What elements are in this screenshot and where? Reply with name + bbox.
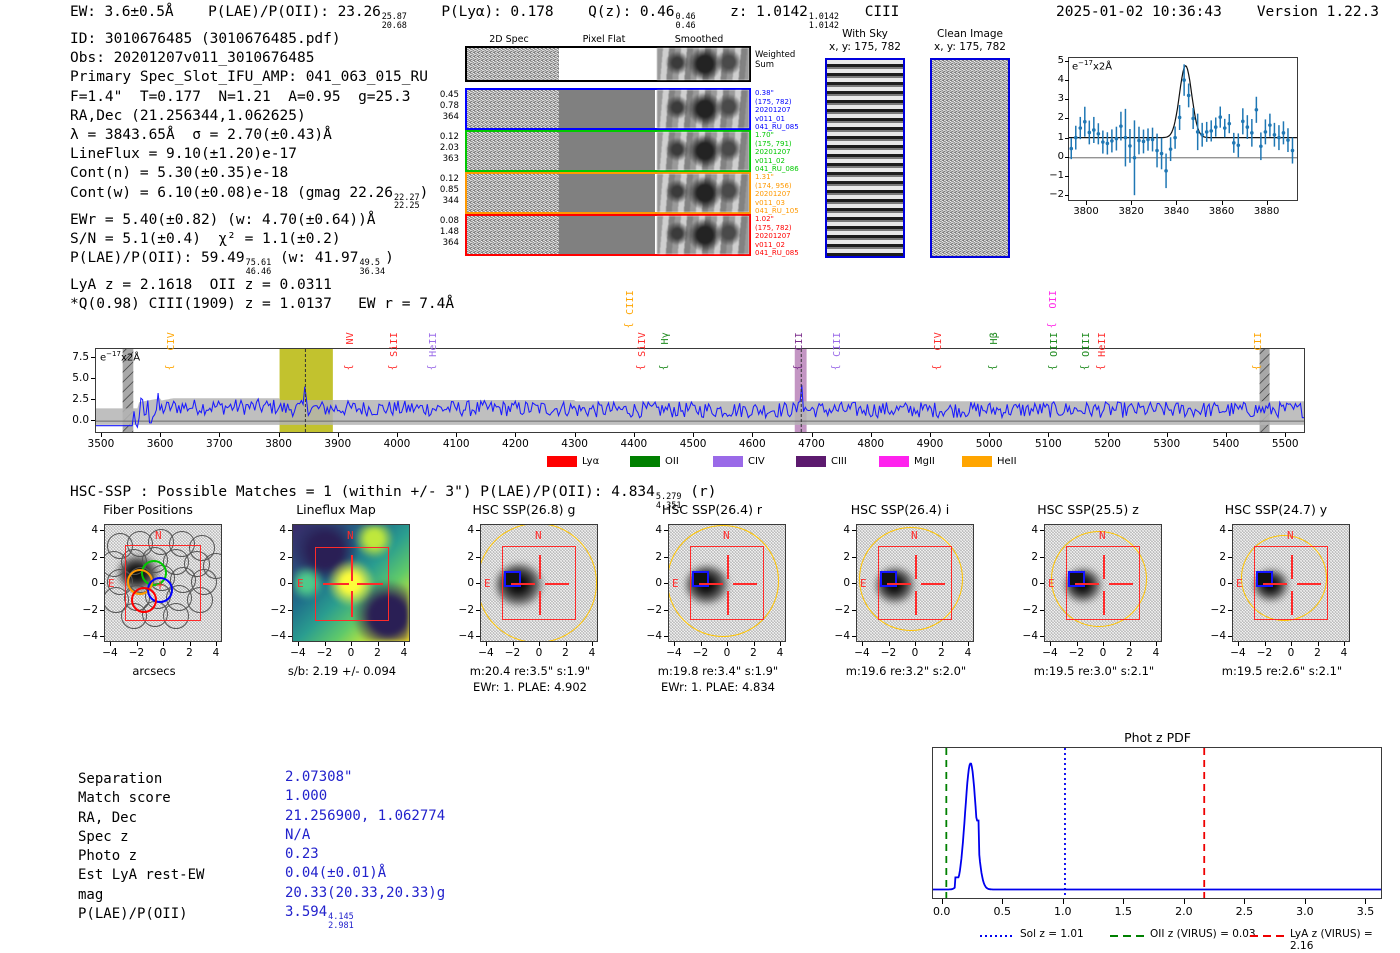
full-spectrum-flux-units: e−17x2Å (100, 350, 140, 363)
line-zoom-canvas (1069, 58, 1297, 200)
emission-line-label: CIV (933, 332, 944, 351)
row-left-stats: 0.122.03363 (415, 132, 459, 165)
row-right-meta: 0.38"(175, 782)20201207v011_01041_RU_085 (755, 89, 819, 132)
cutout-y-tick-label: −2 (260, 604, 286, 616)
phot-x-tick-label: 2.5 (1224, 905, 1264, 918)
panel-caption2-hsc-g: EWr: 1. PLAE: 4.902 (436, 680, 624, 694)
phot-x-tick-label: 3.0 (1285, 905, 1325, 918)
cutout-x-tick-label: 0 (713, 647, 741, 659)
cutout-x-tick (780, 642, 781, 646)
cutout-y-tick-label: −4 (636, 630, 662, 642)
cutout-x-tick (351, 642, 352, 646)
emission-line-bracket: { (1095, 364, 1106, 370)
cutout-x-tick-label: 2 (364, 647, 392, 659)
x-tick-label: 3800 (257, 438, 301, 450)
cutout-y-tick (100, 583, 104, 584)
cutout-y-tick-label: −4 (72, 630, 98, 642)
y-tick-mark (1065, 61, 1069, 62)
cutout-x-tick (190, 642, 191, 646)
row-meta-value: 0.38" (755, 89, 819, 98)
cutout-x-tick (298, 642, 299, 646)
version-label: Version 1.22.3 (1257, 4, 1379, 20)
info-primary-spec: Primary Spec_Slot_IFU_AMP: 041_063_015_R… (70, 68, 454, 87)
cutout-x-tick (566, 642, 567, 646)
cutout-y-tick (100, 530, 104, 531)
cutout-x-tick-label: −4 (1224, 647, 1252, 659)
emission-line-bracket: { (1251, 364, 1262, 370)
row-pixelflat-image (559, 216, 655, 254)
row-pixelflat-image (559, 132, 655, 170)
x-tick-mark (1048, 433, 1049, 437)
cutout-y-tick (476, 610, 480, 611)
panel-title-fiber-positions: Fiber Positions (68, 502, 228, 517)
cutout-y-tick (1228, 530, 1232, 531)
emission-line-bracket: { (388, 364, 399, 370)
cutout-y-tick (288, 636, 292, 637)
row-left-value: 0.85 (415, 185, 459, 196)
x-tick-mark (1167, 433, 1168, 437)
y-tick-mark (91, 399, 95, 400)
cutout-y-tick-label: 4 (1200, 524, 1226, 536)
cutout-x-tick (325, 642, 326, 646)
compass-east: E (672, 577, 679, 590)
cutout-y-tick-label: −2 (1200, 604, 1226, 616)
y-tick-label: 4 (1046, 74, 1064, 85)
x-tick-label: 3820 (1113, 206, 1149, 217)
cutout-x-tick (1077, 642, 1078, 646)
cutout-y-tick (1228, 610, 1232, 611)
phot-x-tick (1002, 899, 1003, 904)
panel-title-lineflux-map: Lineflux Map (256, 502, 416, 517)
crosshair-vert-bot (1103, 591, 1105, 615)
match-plae-range: 4.1452.981 (328, 913, 354, 930)
cutout-axes-hsc-i: NE (856, 524, 974, 642)
cutout-y-tick-label: 0 (448, 577, 474, 589)
phot-x-tick (1365, 899, 1366, 904)
row-meta-value: (175, 782) (755, 224, 819, 233)
row-left-stats: 0.120.85344 (415, 174, 459, 207)
x-tick-mark (575, 433, 576, 437)
row-left-value: 344 (415, 196, 459, 207)
emission-line-bracket: { (831, 364, 842, 370)
phot-legend-line (1250, 930, 1284, 942)
info-cont-n: Cont(n) = 5.30(±0.35)e-18 (70, 164, 454, 183)
match-table-value: 20.33(20.33,20.33)g (285, 884, 445, 903)
emission-line-label: CII (1253, 332, 1264, 351)
phot-legend-label: OII z (VIRUS) = 0.03 (1150, 928, 1256, 940)
cutout-y-tick (664, 636, 668, 637)
cutout-y-tick (664, 610, 668, 611)
cutout-x-tick-label: −2 (687, 647, 715, 659)
x-tick-label: 5300 (1145, 438, 1189, 450)
y-tick-label: 0 (1046, 151, 1064, 162)
cutout-y-tick-label: −4 (260, 630, 286, 642)
info-cont-w-text: Cont(w) = 6.10(±0.08)e-18 (gmag 22.26 (70, 185, 393, 201)
y-tick-mark (91, 357, 95, 358)
x-tick-label: 4900 (908, 438, 952, 450)
x-tick-label: 5000 (967, 438, 1011, 450)
y-tick-label: 7.5 (59, 351, 89, 363)
legend-swatch (630, 456, 660, 467)
y-tick-label: 1 (1046, 132, 1064, 143)
panel-title-hsc-y: HSC SSP(24.7) y (1196, 502, 1356, 517)
x-tick-label: 3500 (79, 438, 123, 450)
header-plae-label: P(LAE)/P(OII): (208, 4, 329, 20)
cutout-x-tick-label: 4 (1142, 647, 1170, 659)
panel-caption1-hsc-z: m:19.5 re:3.0" s:2.1" (1000, 664, 1188, 678)
cutout-y-tick (1040, 530, 1044, 531)
header-plae-lower: 20.68 (382, 22, 407, 31)
cutout-y-tick (1228, 557, 1232, 558)
cutout-y-tick (852, 557, 856, 558)
compass-north: N (1287, 529, 1294, 542)
cutout-y-tick (664, 583, 668, 584)
detection-bluebox (1068, 571, 1085, 587)
y-tick-mark (1065, 176, 1069, 177)
x-tick-label: 4600 (730, 438, 774, 450)
x-tick-label: 5100 (1026, 438, 1070, 450)
y-tick-mark (1065, 80, 1069, 81)
cutout-x-tick-label: 4 (578, 647, 606, 659)
line-zoom-axes (1068, 57, 1298, 201)
cutout-y-tick (100, 636, 104, 637)
crosshair-vert-bot (539, 591, 541, 615)
row-smoothed-image (657, 132, 749, 170)
legend-label: OII (665, 456, 679, 467)
row-left-stats: 0.081.48364 (415, 216, 459, 249)
row-meta-value: (174, 956) (755, 182, 819, 191)
legend-label: Lyα (582, 456, 599, 467)
legend-label: CIII (831, 456, 847, 467)
phot-x-tick-label: 1.5 (1103, 905, 1143, 918)
info-ewr: EWr = 5.40(±0.82) (w: 4.70(±0.64))Å (70, 211, 454, 230)
info-plae: P(LAE)/P(OII): 59.4975.6146.46 (w: 41.97… (70, 249, 454, 276)
y-tick-label: −2 (1046, 189, 1064, 200)
info-cont-w: Cont(w) = 6.10(±0.08)e-18 (gmag 22.2622.… (70, 184, 454, 211)
crosshair-horz-left (1263, 583, 1287, 585)
compass-north: N (911, 529, 918, 542)
crosshair-vert-bot (915, 591, 917, 615)
header-qz-label: Q(z): (588, 4, 631, 20)
cutout-y-tick (1040, 557, 1044, 558)
row-meta-value: 20201207 (755, 232, 819, 241)
cutout-y-tick-label: 0 (260, 577, 286, 589)
cutout-axes-hsc-g: NE (480, 524, 598, 642)
clean-image-title: Clean Image (925, 28, 1015, 40)
row-meta-value: (175, 782) (755, 98, 819, 107)
cutout-x-tick-label: 0 (337, 647, 365, 659)
info-lineflux: LineFlux = 9.10(±1.20)e-17 (70, 145, 454, 164)
x-tick-mark (160, 433, 161, 437)
emission-line-bracket: { (659, 364, 670, 370)
x-tick-label: 4400 (612, 438, 656, 450)
with-sky-coords: x, y: 175, 782 (820, 41, 910, 53)
x-tick-mark (634, 433, 635, 437)
cutout-x-tick (110, 642, 111, 646)
x-tick-mark (1086, 201, 1087, 205)
cutout-x-tick (968, 642, 969, 646)
panel-caption1-hsc-g: m:20.4 re:3.5" s:1.9" (436, 664, 624, 678)
phot-legend-line (1110, 930, 1144, 942)
y-tick-mark (1065, 118, 1069, 119)
cutout-y-tick-label: 4 (72, 524, 98, 536)
mosaic-col-title-pixelflat: Pixel Flat (558, 34, 650, 45)
emission-line-label: SiIV (637, 332, 648, 357)
cutout-y-tick (1040, 583, 1044, 584)
cutout-x-tick (1344, 642, 1345, 646)
crosshair-horz-right (733, 583, 757, 585)
hsc-header-text: HSC-SSP : Possible Matches = 1 (within +… (70, 484, 655, 500)
cutout-x-tick (404, 642, 405, 646)
match-table-key: Separation (78, 770, 204, 789)
legend-swatch (962, 456, 992, 467)
header-ew: EW: 3.6±0.5Å (70, 4, 174, 20)
info-qline: *Q(0.98) CIII(1909) z = 1.0137 EW r = 7.… (70, 295, 454, 314)
cutout-x-tick (163, 642, 164, 646)
cutout-y-tick (476, 530, 480, 531)
compass-east: E (860, 577, 867, 590)
crosshair-horz-right (921, 583, 945, 585)
crosshair-vert-top (351, 555, 353, 581)
cutout-x-tick (513, 642, 514, 646)
cutout-x-tick-label: −4 (660, 647, 688, 659)
emission-line-bracket: { (426, 364, 437, 370)
hsc-header-band: (r) (690, 484, 716, 500)
compass-east: E (108, 577, 115, 590)
match-table-value: 3.5944.1452.981 (285, 903, 445, 930)
cutout-x-tick-label: 4 (1330, 647, 1358, 659)
cutout-x-tick (1318, 642, 1319, 646)
cutout-y-tick (852, 583, 856, 584)
row-2dspec-image (467, 216, 559, 254)
full-spectrum-axes (95, 348, 1305, 433)
crosshair-vert-top (1291, 555, 1293, 579)
row-meta-value: v011_03 (755, 199, 819, 208)
x-tick-label: 3600 (138, 438, 182, 450)
row-meta-value: v011_02 (755, 241, 819, 250)
x-tick-mark (1108, 433, 1109, 437)
cutout-x-tick-label: 2 (176, 647, 204, 659)
cutout-x-tick-label: 2 (740, 647, 768, 659)
mosaic-row-weighted-sum (465, 46, 751, 82)
row-left-value: 0.78 (415, 101, 459, 112)
x-tick-mark (693, 433, 694, 437)
cutout-y-tick-label: 4 (824, 524, 850, 536)
cutout-y-tick (1228, 583, 1232, 584)
panel-caption2-hsc-r: EWr: 1. PLAE: 4.834 (624, 680, 812, 694)
cutout-y-tick-label: −2 (1012, 604, 1038, 616)
cutout-y-tick-label: −2 (448, 604, 474, 616)
weighted-sum-label: Weighted Sum (755, 50, 795, 70)
weighted-sum-smoothed-image (657, 48, 749, 80)
crosshair-horz-left (887, 583, 911, 585)
cutout-x-tick-label: −2 (875, 647, 903, 659)
row-pixelflat-image (559, 90, 655, 128)
cutout-y-tick (288, 583, 292, 584)
cutout-y-tick (1040, 636, 1044, 637)
cutout-y-tick (100, 557, 104, 558)
panel-title-hsc-r: HSC SSP(26.4) r (632, 502, 792, 517)
cutout-y-tick (100, 610, 104, 611)
cutout-y-tick-label: 2 (448, 551, 474, 563)
cutout-y-tick-label: −2 (72, 604, 98, 616)
cutout-x-tick-label: −2 (311, 647, 339, 659)
y-tick-mark (91, 378, 95, 379)
y-tick-label: 5 (1046, 55, 1064, 66)
match-table-value: N/A (285, 826, 445, 845)
cutout-y-tick-label: −2 (824, 604, 850, 616)
panel-caption1-lineflux-map: s/b: 2.19 +/- 0.094 (248, 664, 436, 678)
mosaic-row (465, 88, 751, 130)
cutout-x-tick (486, 642, 487, 646)
cutout-x-tick (1130, 642, 1131, 646)
row-left-value: 364 (415, 238, 459, 249)
cutout-x-tick-label: 4 (954, 647, 982, 659)
cutout-x-tick-label: 0 (901, 647, 929, 659)
info-redshifts: LyA z = 2.1618 OII z = 0.0311 (70, 276, 454, 295)
phot-legend-line (980, 930, 1014, 942)
match-table-value: 0.23 (285, 845, 445, 864)
cutout-x-tick-label: 2 (1304, 647, 1332, 659)
cutout-x-tick-label: −4 (284, 647, 312, 659)
crosshair-horz-left (323, 583, 349, 585)
cutout-y-tick-label: 4 (636, 524, 662, 536)
cutout-x-tick-label: 4 (202, 647, 230, 659)
emission-line-label: OII (1048, 290, 1059, 309)
info-lambda-sigma: λ = 3843.65Å σ = 2.70(±0.43)Å (70, 126, 454, 145)
full-spectrum-panel: e−17x2Å 0.02.55.07.5 3500360037003800390… (95, 340, 1305, 450)
x-tick-mark (871, 433, 872, 437)
x-tick-mark (1226, 433, 1227, 437)
cutout-y-tick-label: −4 (1200, 630, 1226, 642)
phot-x-tick (1184, 899, 1185, 904)
line-zoom-plot: e−17x2Å −2−1012345 38003820384038603880 (1036, 55, 1300, 235)
cutout-x-tick-label: 4 (766, 647, 794, 659)
compass-east: E (484, 577, 491, 590)
cutout-y-tick-label: 2 (824, 551, 850, 563)
cutout-y-tick (1040, 610, 1044, 611)
emission-line-bracket: { (635, 364, 646, 370)
row-smoothed-image (657, 174, 749, 212)
row-meta-value: 20201207 (755, 106, 819, 115)
header-z-value: 1.0142 (756, 4, 808, 20)
compass-east: E (1236, 577, 1243, 590)
emission-line-bracket: { (1080, 364, 1091, 370)
cutout-x-tick-label: −2 (499, 647, 527, 659)
panel-title-hsc-g: HSC SSP(26.8) g (444, 502, 604, 517)
match-plae-lower: 2.981 (328, 922, 354, 931)
cutout-y-tick-label: 4 (1012, 524, 1038, 536)
x-tick-mark (1222, 201, 1223, 205)
header-plya: P(Lyα): 0.178 (441, 4, 553, 20)
cutout-y-tick-label: −4 (448, 630, 474, 642)
phot-x-tick (1244, 899, 1245, 904)
cutout-x-tick (862, 642, 863, 646)
panel-caption1-fiber-positions: arcsecs (60, 664, 248, 678)
x-tick-label: 4700 (790, 438, 834, 450)
crosshair-vert-top (539, 555, 541, 579)
x-tick-label: 3860 (1204, 206, 1240, 217)
row-meta-value: 1.02" (755, 215, 819, 224)
legend-label: CIV (748, 456, 765, 467)
info-radec: RA,Dec (21.256344,1.062625) (70, 107, 454, 126)
crosshair-horz-left (1075, 583, 1099, 585)
phot-x-tick-label: 0.5 (982, 905, 1022, 918)
info-plae-label: P(LAE)/P(OII): 59.49 (70, 250, 245, 266)
match-table-key: P(LAE)/P(OII) (78, 905, 204, 924)
cutout-y-tick (852, 530, 856, 531)
spec2d-mosaic: 2D Spec Pixel Flat Smoothed Weighted Sum… (463, 34, 773, 254)
cutout-axes-lineflux-map: NE (292, 524, 410, 642)
cutout-x-tick (1291, 642, 1292, 646)
info-sn-chi2: S/N = 5.1(±0.4) χ² = 1.1(±0.2) (70, 230, 454, 249)
x-tick-mark (989, 433, 990, 437)
match-table-key: Match score (78, 789, 204, 808)
clean-image-coords: x, y: 175, 782 (925, 41, 1015, 53)
match-table-values: 2.07308"1.00021.256900, 1.062774N/A0.230… (285, 768, 445, 930)
cutout-x-tick (754, 642, 755, 646)
compass-east: E (1048, 577, 1055, 590)
x-tick-label: 3880 (1249, 206, 1285, 217)
x-tick-mark (279, 433, 280, 437)
compass-east: E (297, 577, 304, 590)
row-left-stats: 0.450.78364 (415, 90, 459, 123)
weighted-sum-2dspec-image (467, 48, 559, 80)
cutout-x-tick-label: −2 (123, 647, 151, 659)
x-tick-label: 3800 (1068, 206, 1104, 217)
header-timestamp-version: 2025-01-02 10:36:43 Version 1.22.3 (1056, 4, 1379, 20)
row-2dspec-image (467, 90, 559, 128)
cutout-y-tick-label: 4 (260, 524, 286, 536)
cutout-x-tick-label: −4 (96, 647, 124, 659)
y-tick-label: 0.0 (59, 414, 89, 426)
emission-line-bracket: { (1048, 364, 1059, 370)
cutout-y-tick-label: −2 (636, 604, 662, 616)
cutout-x-tick (539, 642, 540, 646)
cutout-x-tick (216, 642, 217, 646)
header-z-line: CIII (865, 4, 900, 20)
crosshair-horz-right (1297, 583, 1321, 585)
cutout-x-tick-label: −2 (1063, 647, 1091, 659)
row-left-value: 0.12 (415, 174, 459, 185)
info-plae-w: (w: 41.97 (280, 250, 359, 266)
x-tick-label: 4100 (434, 438, 478, 450)
match-table-keys: SeparationMatch scoreRA, DecSpec zPhoto … (78, 770, 204, 924)
emission-line-label: CIII (832, 332, 843, 357)
cutout-y-tick (476, 583, 480, 584)
phot-x-tick-label: 2.0 (1164, 905, 1204, 918)
x-tick-mark (219, 433, 220, 437)
cutout-y-tick (852, 610, 856, 611)
cutout-y-tick-label: 2 (1012, 551, 1038, 563)
compass-north: N (535, 529, 542, 542)
row-left-value: 0.12 (415, 132, 459, 143)
row-right-meta: 1.70"(175, 791)20201207v011_02041_RU_086 (755, 131, 819, 174)
spectrum-legend: LyαOIICIVCIIIMgIIHeII (95, 455, 1305, 471)
cutout-y-tick (288, 610, 292, 611)
header-summary: EW: 3.6±0.5Å P(LAE)/P(OII): 23.2625.8720… (70, 4, 899, 30)
emission-line-bracket: { (623, 322, 634, 328)
match-table-key: Est LyA rest-EW (78, 866, 204, 885)
cutout-x-tick (674, 642, 675, 646)
crosshair-horz-right (1109, 583, 1133, 585)
mosaic-col-title-2dspec: 2D Spec (463, 34, 555, 45)
weighted-sum-line2: Sum (755, 60, 795, 70)
cutout-y-tick-label: 4 (448, 524, 474, 536)
crosshair-vert-top (727, 555, 729, 579)
crosshair-vert-top (915, 555, 917, 579)
phot-z-pdf-title: Phot z PDF (925, 730, 1390, 745)
